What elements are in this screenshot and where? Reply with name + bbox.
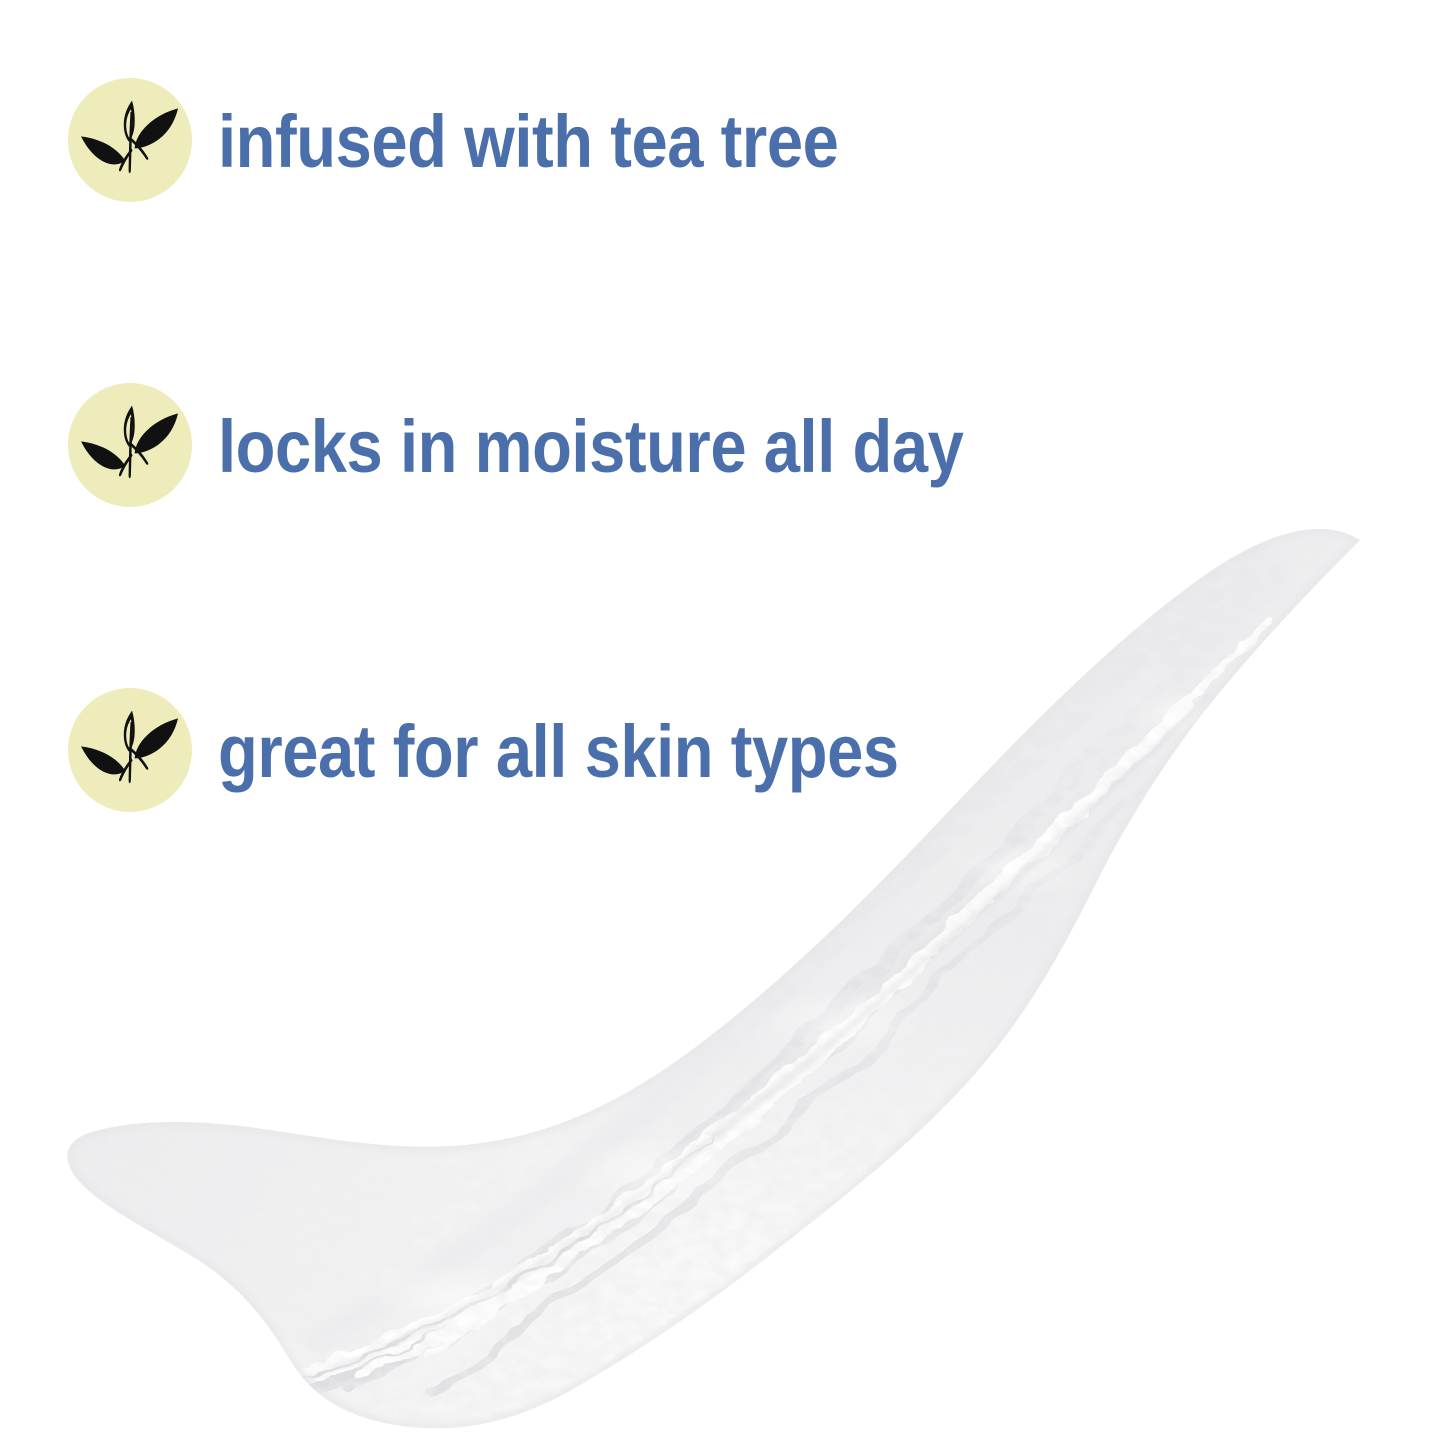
- tea-leaf-badge: [68, 383, 192, 507]
- tea-leaf-icon: [68, 688, 192, 812]
- benefit-item-1: locks in moisture all day: [68, 383, 1065, 507]
- benefit-label: infused with tea tree: [218, 105, 838, 179]
- tea-leaf-badge: [68, 78, 192, 202]
- benefit-item-0: infused with tea tree: [68, 78, 923, 202]
- tea-leaf-badge: [68, 688, 192, 812]
- cream-speckle: [0, 480, 1445, 1445]
- benefit-item-2: great for all skin types: [68, 688, 992, 812]
- benefit-label: locks in moisture all day: [218, 410, 963, 484]
- tea-leaf-icon: [68, 78, 192, 202]
- cream-smear-swatch: [0, 480, 1445, 1445]
- cream-body: [0, 480, 1445, 1445]
- tea-leaf-icon: [68, 383, 192, 507]
- benefit-label: great for all skin types: [218, 715, 899, 789]
- product-benefits-panel: infused with tea tree locks in moisture …: [0, 0, 1445, 1445]
